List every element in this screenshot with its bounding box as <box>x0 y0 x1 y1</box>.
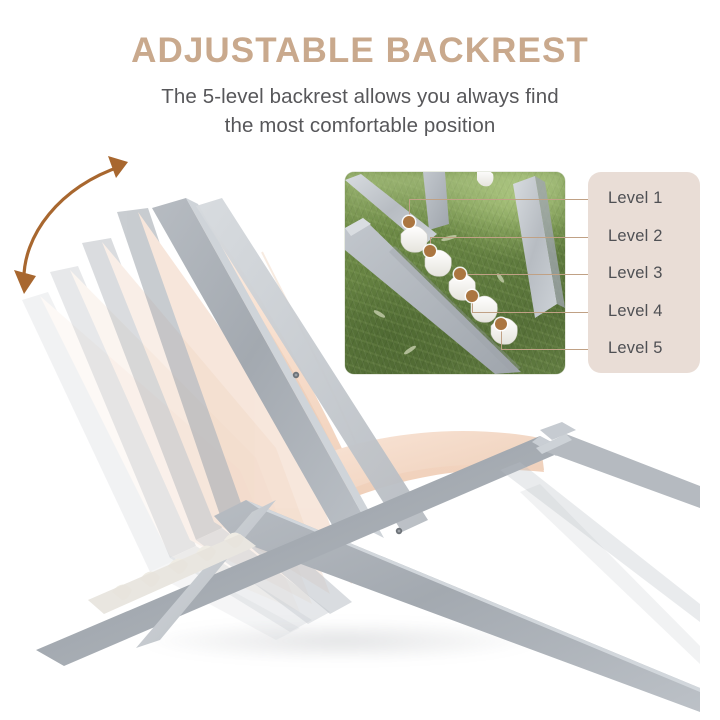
notch-marker-level-4 <box>466 290 478 302</box>
notch-marker-level-2 <box>424 245 436 257</box>
level-label-4: Level 4 <box>608 302 700 321</box>
recline-range-arrow <box>0 140 180 330</box>
leader-line-level-4 <box>472 312 603 313</box>
pivot-rivet-highlight <box>398 530 401 533</box>
leader-line-level-1 <box>409 199 603 200</box>
arrow-head-top <box>108 156 128 178</box>
notch-marker-level-5 <box>495 318 507 330</box>
notch-marker-level-3 <box>454 268 466 280</box>
level-label-1: Level 1 <box>608 189 700 208</box>
arrow-arc <box>24 166 122 282</box>
leader-line-level-3 <box>460 274 603 275</box>
level-label-2: Level 2 <box>608 227 700 246</box>
level-label-3: Level 3 <box>608 264 700 283</box>
notch-marker-level-1 <box>403 216 415 228</box>
leader-line-level-2 <box>430 237 603 238</box>
photo-notch-top <box>477 172 494 186</box>
pivot-rivet-highlight <box>295 374 298 377</box>
level-label-5: Level 5 <box>608 339 700 358</box>
arrow-head-bottom <box>14 270 36 294</box>
photo-rail-vertical <box>423 172 449 230</box>
product-feature-image: ADJUSTABLE BACKREST The 5-level backrest… <box>0 0 720 720</box>
level-label-panel: Level 1 Level 2 Level 3 Level 4 Level 5 <box>588 172 700 373</box>
